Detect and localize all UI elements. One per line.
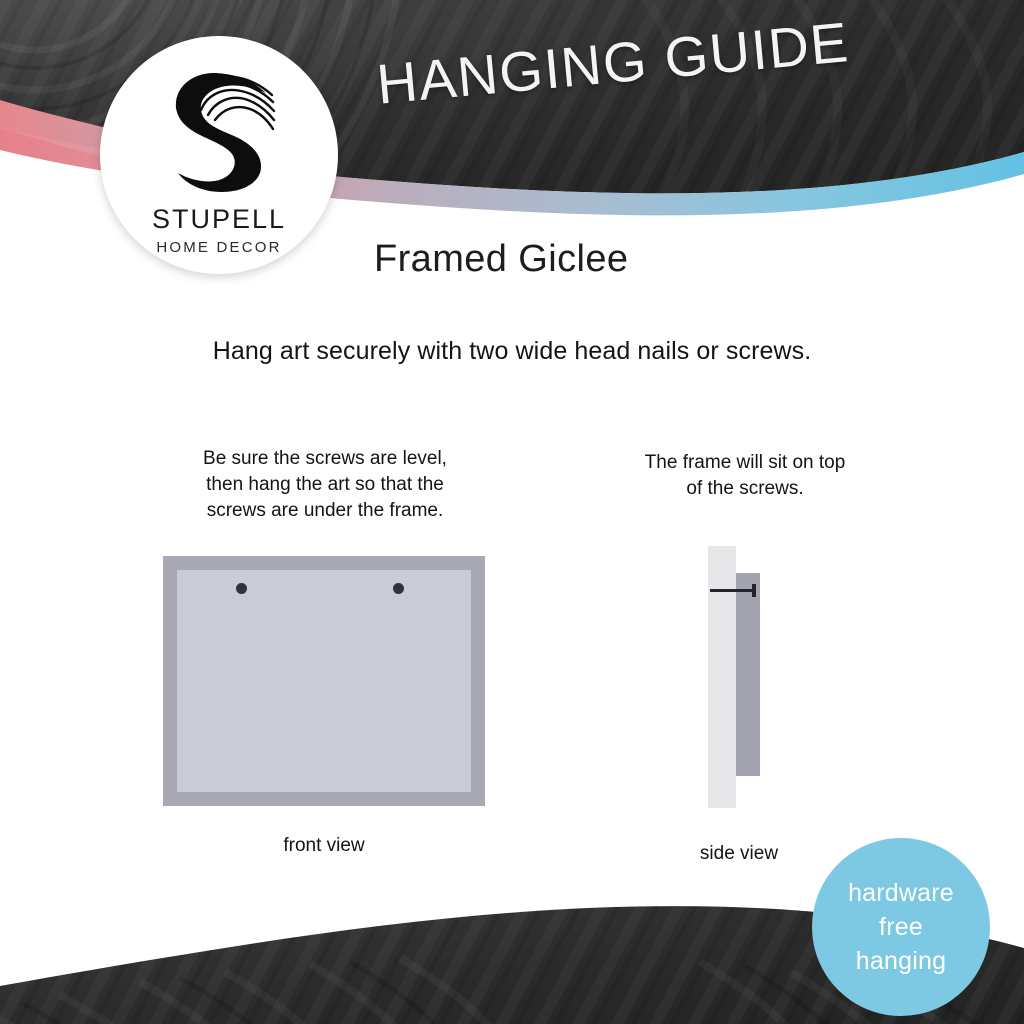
side-view-caption-line-1: The frame will sit on top [600,450,890,476]
side-view-frame-diagram [708,546,770,808]
screw-dot-right-icon [393,583,404,594]
front-view-caption-line-2: then hang the art so that the [160,472,490,498]
hanging-guide-page: STUPELL HOME DECOR HANGING GUIDE Framed … [0,0,1024,1024]
side-view-label: side view [648,843,830,865]
badge-line-2: free [879,910,923,944]
product-type-label: Framed Giclee [374,238,628,281]
page-title: HANGING GUIDE [374,9,852,117]
front-view-frame-diagram [163,556,485,806]
front-view-mat-area [177,570,471,792]
front-view-caption: Be sure the screws are level, then hang … [160,446,490,524]
brand-logo-badge: STUPELL HOME DECOR [100,36,338,274]
nail-head-icon [752,584,756,597]
main-instruction-text: Hang art securely with two wide head nai… [0,337,1024,366]
hardware-free-hanging-badge: hardware free hanging [812,838,990,1016]
brand-name: STUPELL [100,204,338,235]
side-view-caption-line-2: of the screws. [600,476,890,502]
side-view-caption: The frame will sit on top of the screws. [600,450,890,502]
screw-dot-left-icon [236,583,247,594]
badge-line-3: hanging [856,944,946,978]
brand-tagline: HOME DECOR [100,239,338,256]
front-view-label: front view [163,835,485,857]
side-view-frame-strip [736,573,760,776]
badge-line-1: hardware [848,876,954,910]
side-view-wall-strip [708,546,736,808]
nail-shaft-icon [710,589,756,592]
front-view-caption-line-1: Be sure the screws are level, [160,446,490,472]
front-view-caption-line-3: screws are under the frame. [160,498,490,524]
stupell-swirl-logo-icon [158,62,280,194]
